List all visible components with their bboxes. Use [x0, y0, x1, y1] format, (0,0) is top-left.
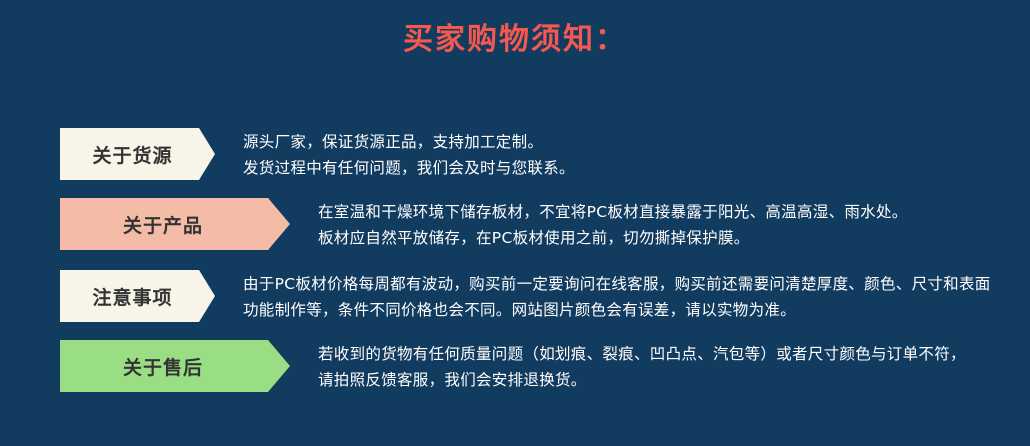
page-title: 买家购物须知：: [0, 20, 1030, 60]
notice-section-aftersales: 关于售后 若收到的货物有任何质量问题（如划痕、裂痕、凹凸点、汽包等）或者尺寸颜色…: [0, 340, 1030, 412]
notice-text-aftersales: 若收到的货物有任何质量问题（如划痕、裂痕、凹凸点、汽包等）或者尺寸颜色与订单不符…: [318, 341, 966, 393]
notice-line: 请拍照反馈客服，我们会安排退换货。: [318, 367, 966, 393]
notice-line: 功能制作等，条件不同价格也会不同。网站图片颜色会有误差，请以实物为准。: [243, 297, 991, 323]
buyer-notice-banner: 买家购物须知： 关于货源 源头厂家，保证货源正品，支持加工定制。 发货过程中有任…: [0, 0, 1030, 446]
badge-label: 关于货源: [92, 141, 172, 168]
badge-attention-items: 注意事项: [60, 270, 215, 322]
notice-line: 板材应自然平放储存，在PC板材使用之前，切勿撕掉保护膜。: [318, 225, 908, 251]
notice-section-attention: 注意事项 由于PC板材价格每周都有波动，购买前一定要询问在线客服，购买前还需要问…: [0, 270, 1030, 342]
notice-text-source: 源头厂家，保证货源正品，支持加工定制。 发货过程中有任何问题，我们会及时与您联系…: [243, 129, 575, 181]
notice-line: 源头厂家，保证货源正品，支持加工定制。: [243, 129, 575, 155]
badge-label: 关于售后: [123, 353, 203, 380]
notice-section-source: 关于货源 源头厂家，保证货源正品，支持加工定制。 发货过程中有任何问题，我们会及…: [0, 128, 1030, 200]
badge-about-aftersales: 关于售后: [60, 340, 290, 392]
notice-line: 若收到的货物有任何质量问题（如划痕、裂痕、凹凸点、汽包等）或者尺寸颜色与订单不符…: [318, 341, 966, 367]
notice-text-attention: 由于PC板材价格每周都有波动，购买前一定要询问在线客服，购买前还需要问清楚厚度、…: [243, 271, 991, 323]
badge-about-source: 关于货源: [60, 128, 215, 180]
badge-label: 注意事项: [92, 283, 172, 310]
badge-label: 关于产品: [123, 211, 203, 238]
notice-line: 由于PC板材价格每周都有波动，购买前一定要询问在线客服，购买前还需要问清楚厚度、…: [243, 271, 991, 297]
notice-line: 在室温和干燥环境下储存板材，不宜将PC板材直接暴露于阳光、高温高湿、雨水处。: [318, 199, 908, 225]
notice-text-product: 在室温和干燥环境下储存板材，不宜将PC板材直接暴露于阳光、高温高湿、雨水处。 板…: [318, 199, 908, 251]
badge-about-product: 关于产品: [60, 198, 290, 250]
notice-section-product: 关于产品 在室温和干燥环境下储存板材，不宜将PC板材直接暴露于阳光、高温高湿、雨…: [0, 198, 1030, 270]
notice-line: 发货过程中有任何问题，我们会及时与您联系。: [243, 155, 575, 181]
